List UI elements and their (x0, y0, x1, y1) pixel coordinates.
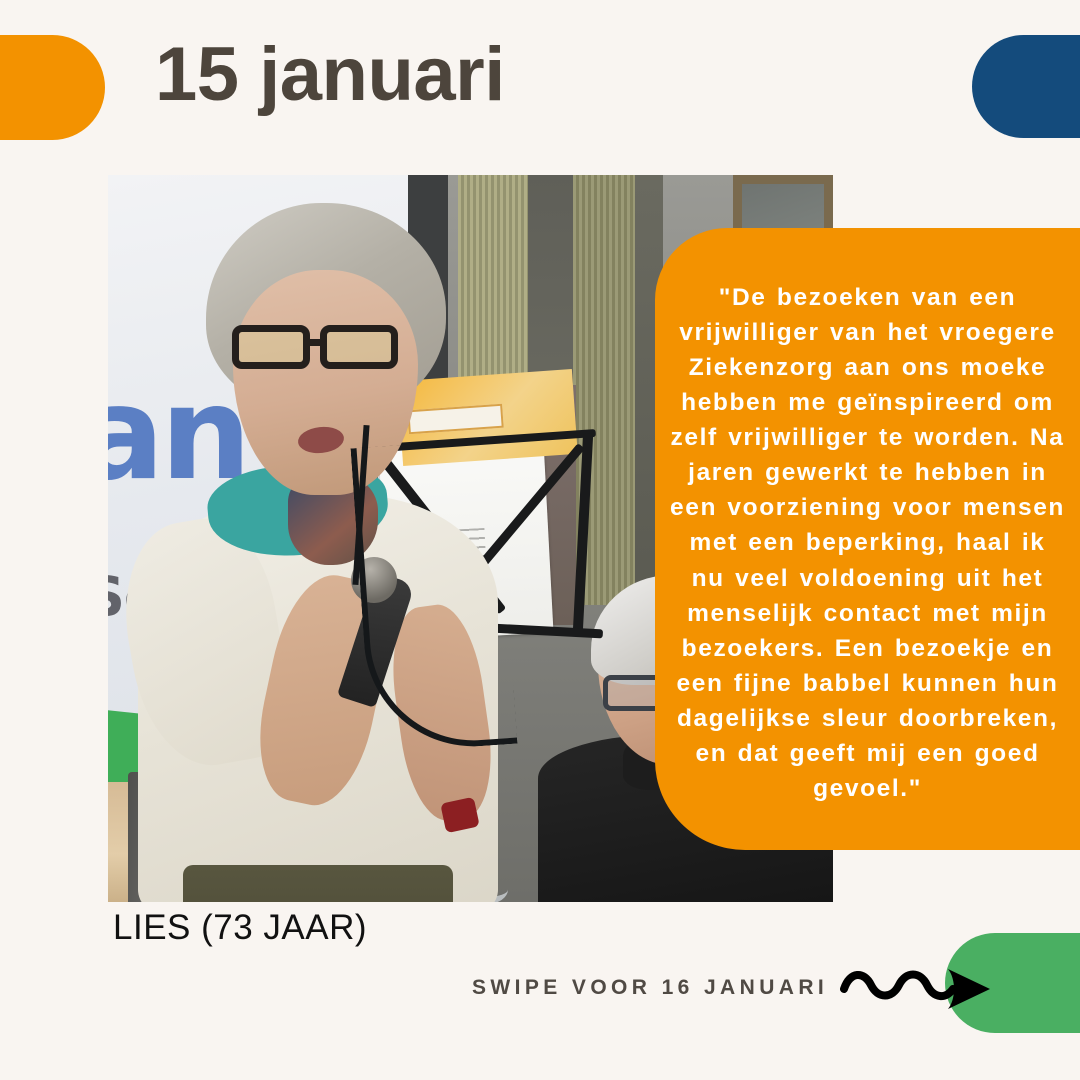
quote-callout-box: "De bezoeken van een vrijwilliger van he… (655, 228, 1080, 850)
woman-lens-right (320, 325, 398, 369)
page-title: 15 januari (155, 33, 505, 117)
woman-lens-left (232, 325, 310, 369)
header-blue-pill-shape (972, 35, 1080, 138)
post-canvas: 15 januari an Schi SO (0, 0, 1080, 1080)
squiggly-arrow-right-icon (840, 955, 1015, 1017)
photo-caption: LIES (73 JAAR) (113, 908, 367, 948)
photo-woman-glasses-icon (228, 325, 428, 369)
header-orange-pill-shape (0, 35, 105, 140)
quote-text: "De bezoeken van een vrijwilliger van he… (669, 280, 1066, 805)
photo-woman-trousers (183, 865, 453, 902)
swipe-label: SWIPE VOOR 16 JANUARI (472, 976, 828, 1000)
